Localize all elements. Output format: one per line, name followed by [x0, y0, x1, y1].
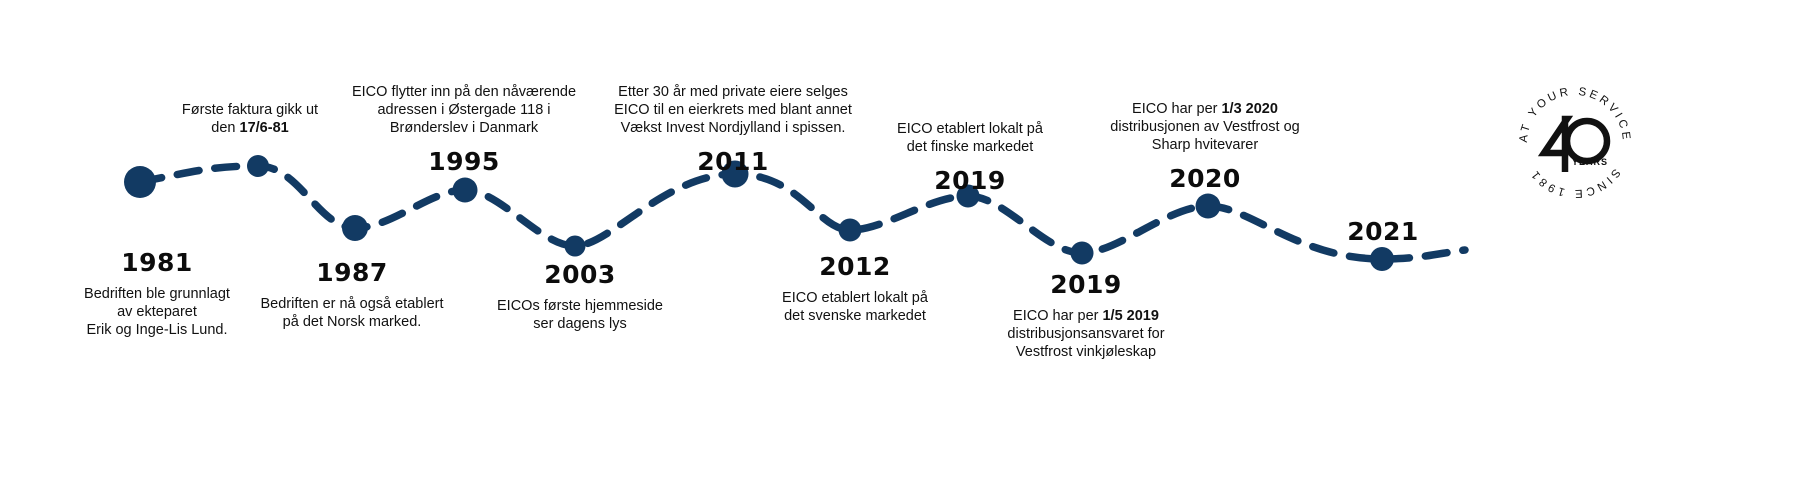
timeline-node-1995[interactable]	[453, 178, 478, 203]
timeline-entry-2003: 2003 EICOs første hjemmesideser dagens l…	[497, 262, 663, 333]
timeline-year-2003: 2003	[497, 262, 663, 287]
timeline-node-2003[interactable]	[565, 236, 586, 257]
timeline-entry-1981: 1981 Bedriften ble grunnlagtav ekteparet…	[84, 250, 230, 339]
timeline-year-1995: 1995	[352, 149, 576, 174]
timeline-entry-2019-vestfrost: 2019 EICO har per 1/5 2019distribusjonsa…	[1007, 272, 1164, 361]
timeline-year-2021: 2021	[1347, 219, 1419, 244]
timeline-node-2020[interactable]	[1196, 194, 1221, 219]
timeline-entry-1981-invoice: Første faktura gikk utden 17/6-81	[182, 101, 318, 149]
timeline-entry-2019-fi: EICO etablert lokalt pådet finske marked…	[897, 120, 1043, 193]
timeline-year-2011: 2011	[614, 149, 852, 174]
badge-top-arc-text: AT YOUR SERVICE	[1518, 86, 1632, 143]
timeline-node-1981[interactable]	[124, 166, 156, 198]
timeline-entry-1995: EICO flytter inn på den nåværendeadresse…	[352, 83, 576, 174]
timeline-entry-2012: 2012 EICO etablert lokalt pådet svenske …	[782, 254, 928, 325]
timeline-node-2012[interactable]	[839, 219, 862, 242]
timeline-desc-1987: Bedriften er nå også etablertpå det Nors…	[261, 295, 444, 331]
timeline-entry-1987: 1987 Bedriften er nå også etablertpå det…	[261, 260, 444, 331]
timeline-desc-2019-fi: EICO etablert lokalt pådet finske marked…	[897, 120, 1043, 156]
forty-years-badge: AT YOUR SERVICE SINCE 1981 YEARS	[1511, 79, 1639, 207]
timeline-year-1981: 1981	[84, 250, 230, 275]
timeline-desc-2020: EICO har per 1/3 2020distribusjonen av V…	[1110, 100, 1299, 154]
timeline-year-1987: 1987	[261, 260, 444, 285]
timeline-infographic: 1981 Bedriften ble grunnlagtav ekteparet…	[0, 0, 1800, 500]
timeline-year-2020: 2020	[1110, 166, 1299, 191]
timeline-desc-2003: EICOs første hjemmesideser dagens lys	[497, 297, 663, 333]
timeline-node-1987[interactable]	[342, 215, 368, 241]
timeline-desc-1981: Bedriften ble grunnlagtav ekteparetErik …	[84, 285, 230, 339]
timeline-desc-2012: EICO etablert lokalt pådet svenske marke…	[782, 289, 928, 325]
timeline-year-2019-fi: 2019	[897, 168, 1043, 193]
timeline-desc-2019-vestfrost: EICO har per 1/5 2019distribusjonsansvar…	[1007, 307, 1164, 361]
timeline-desc-1995: EICO flytter inn på den nåværendeadresse…	[352, 83, 576, 137]
timeline-entry-2020: EICO har per 1/3 2020distribusjonen av V…	[1110, 100, 1299, 191]
timeline-node-1981-invoice[interactable]	[247, 155, 269, 177]
timeline-node-2021[interactable]	[1370, 247, 1394, 271]
timeline-desc-2011: Etter 30 år med private eiere selgesEICO…	[614, 83, 852, 137]
timeline-node-2019-vestfrost[interactable]	[1071, 242, 1094, 265]
timeline-entry-2011: Etter 30 år med private eiere selgesEICO…	[614, 83, 852, 174]
timeline-wave-line	[0, 0, 1800, 500]
timeline-desc-1981-invoice: Første faktura gikk utden 17/6-81	[182, 101, 318, 137]
timeline-year-2012: 2012	[782, 254, 928, 279]
badge-bottom-arc-text: SINCE 1981	[1528, 166, 1622, 199]
timeline-year-2019-vestfrost: 2019	[1007, 272, 1164, 297]
badge-years-label: YEARS	[1572, 157, 1608, 167]
timeline-entry-2021: 2021	[1347, 207, 1419, 244]
